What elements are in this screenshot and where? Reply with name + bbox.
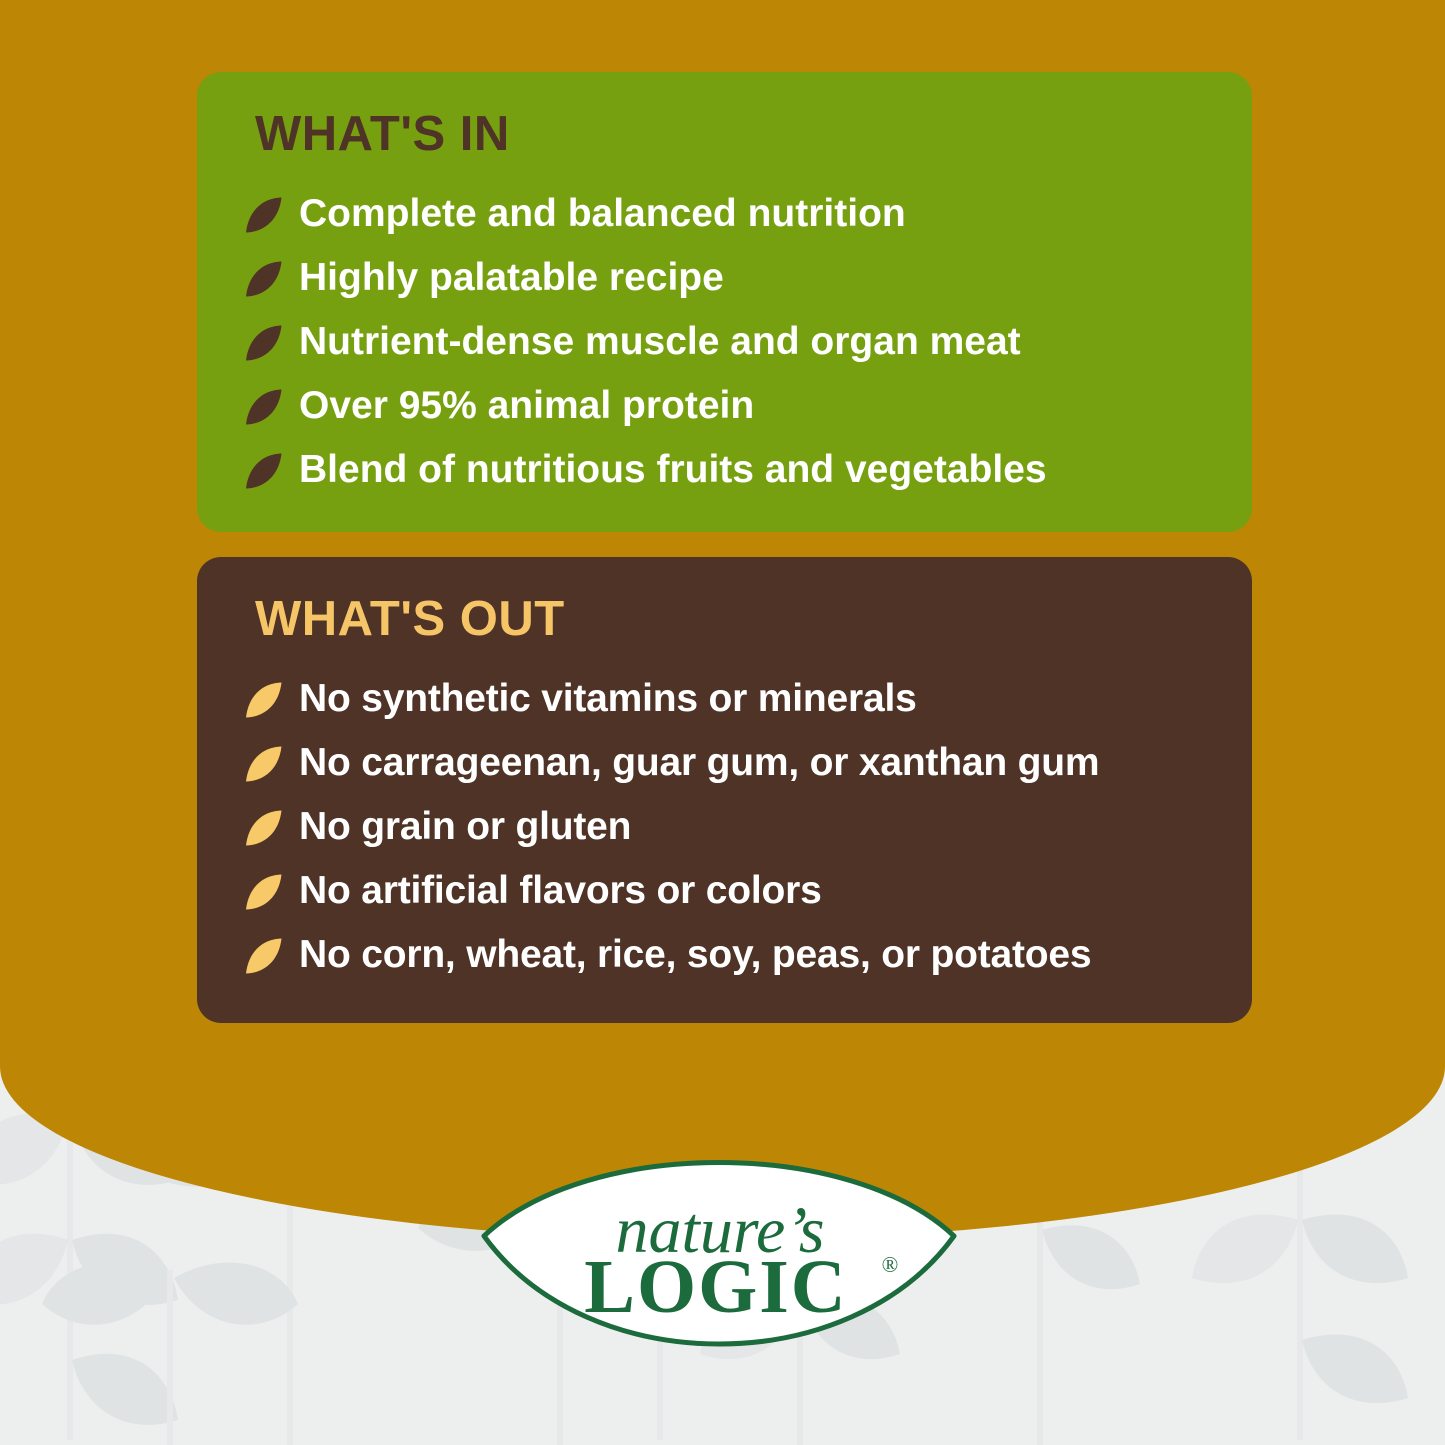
list-item-label: Highly palatable recipe [299, 257, 724, 299]
list-item: Complete and balanced nutrition [241, 187, 1208, 241]
list-item-label: No artificial flavors or colors [299, 870, 822, 912]
list-item-label: Blend of nutritious fruits and vegetable… [299, 449, 1047, 491]
list-item-label: No corn, wheat, rice, soy, peas, or pota… [299, 934, 1091, 976]
whats-out-list: No synthetic vitamins or minerals No car… [241, 672, 1208, 982]
leaf-bullet-icon [241, 192, 285, 236]
whats-in-list: Complete and balanced nutrition Highly p… [241, 187, 1208, 497]
logo-registered-mark: ® [882, 1252, 899, 1277]
natures-logic-logo: nature’s LOGIC ® [478, 1144, 960, 1384]
list-item-label: No grain or gluten [299, 806, 631, 848]
list-item: No synthetic vitamins or minerals [241, 672, 1208, 726]
list-item-label: No synthetic vitamins or minerals [299, 678, 917, 720]
leaf-bullet-icon [241, 256, 285, 300]
whats-out-panel: WHAT'S OUT No synthetic vitamins or mine… [197, 557, 1252, 1023]
infographic-canvas: WHAT'S IN Complete and balanced nutritio… [0, 0, 1445, 1445]
list-item: No carrageenan, guar gum, or xanthan gum [241, 736, 1208, 790]
whats-in-panel: WHAT'S IN Complete and balanced nutritio… [197, 72, 1252, 532]
leaf-bullet-icon [241, 384, 285, 428]
leaf-bullet-icon [241, 677, 285, 721]
whats-in-title: WHAT'S IN [255, 110, 1208, 159]
list-item: Highly palatable recipe [241, 251, 1208, 305]
leaf-bullet-icon [241, 805, 285, 849]
list-item: Blend of nutritious fruits and vegetable… [241, 443, 1208, 497]
leaf-bullet-icon [241, 741, 285, 785]
list-item: No artificial flavors or colors [241, 864, 1208, 918]
logo-serif-text: LOGIC [584, 1245, 847, 1329]
list-item-label: Over 95% animal protein [299, 385, 754, 427]
leaf-bullet-icon [241, 448, 285, 492]
list-item: No corn, wheat, rice, soy, peas, or pota… [241, 928, 1208, 982]
whats-out-title: WHAT'S OUT [255, 595, 1208, 644]
list-item-label: Nutrient-dense muscle and organ meat [299, 321, 1021, 363]
list-item-label: No carrageenan, guar gum, or xanthan gum [299, 742, 1099, 784]
leaf-bullet-icon [241, 320, 285, 364]
list-item: Nutrient-dense muscle and organ meat [241, 315, 1208, 369]
list-item-label: Complete and balanced nutrition [299, 193, 906, 235]
leaf-bullet-icon [241, 933, 285, 977]
leaf-bullet-icon [241, 869, 285, 913]
list-item: Over 95% animal protein [241, 379, 1208, 433]
list-item: No grain or gluten [241, 800, 1208, 854]
